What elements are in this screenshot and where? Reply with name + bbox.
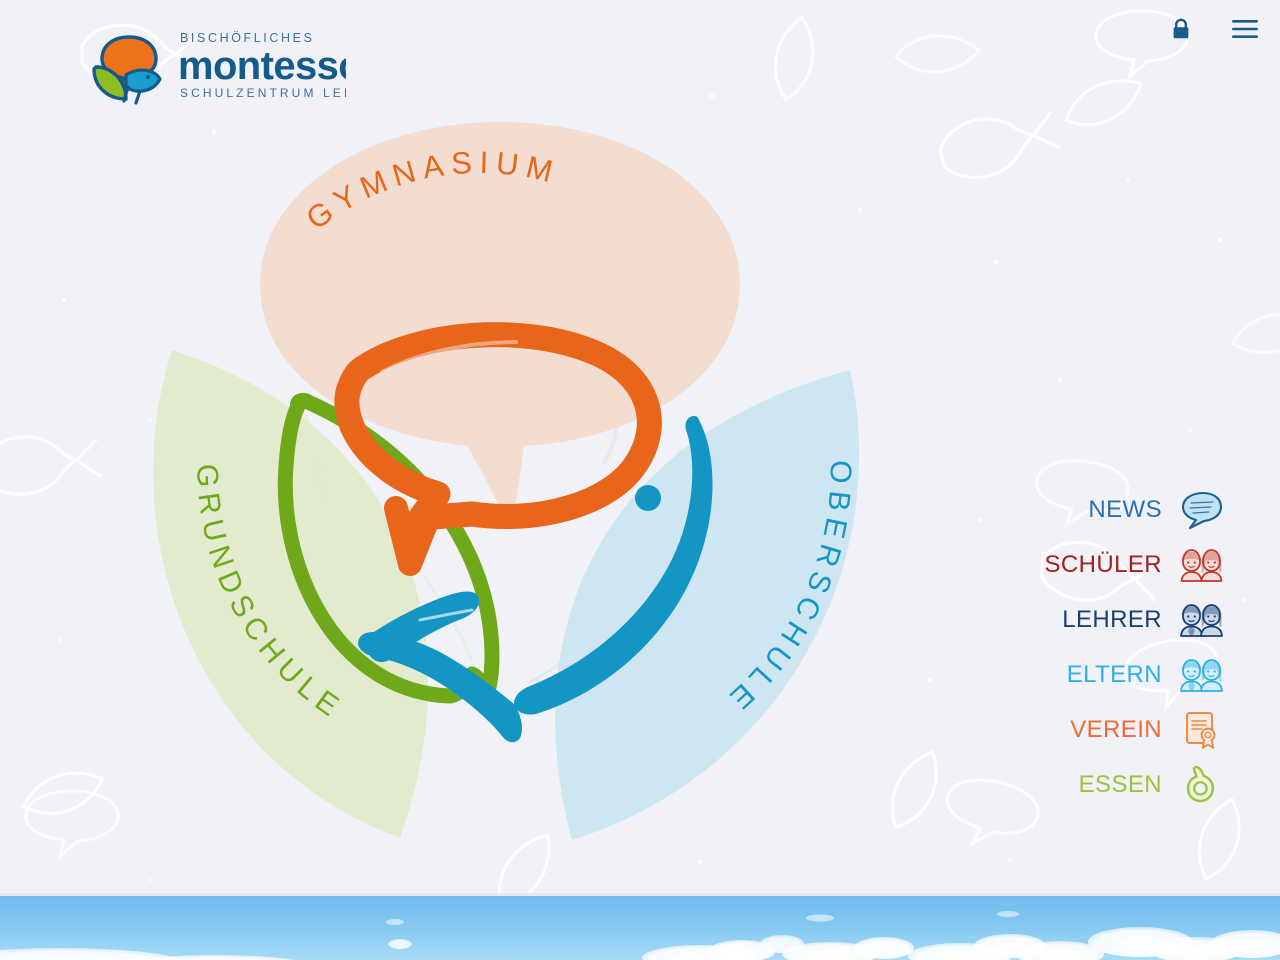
oberschule-fish-eye (635, 485, 661, 511)
quicknav-label-essen: ESSEN (1079, 773, 1162, 797)
quicknav-item-lehrer[interactable]: LEHRER (1004, 598, 1224, 642)
logo-line1: BISCHÖFLICHES (180, 31, 315, 45)
sky-footer-image (0, 896, 1280, 960)
school-segments-artwork: GRUNDSCHULE OBERSCHULE (120, 100, 900, 860)
site-header: BISCHÖFLICHES montessori SCHULZENTRUM LE… (0, 0, 1280, 130)
logo-line3: SCHULZENTRUM LEIPZIG (180, 86, 346, 100)
parents-icon (1178, 654, 1224, 696)
sky-divider (0, 893, 1280, 896)
quicknav-label-eltern: ELTERN (1067, 663, 1162, 687)
quicknav-item-verein[interactable]: VEREIN (1004, 708, 1224, 752)
quicknav-label-verein: VEREIN (1070, 718, 1162, 742)
quicknav-item-news[interactable]: NEWS (1004, 488, 1224, 532)
logo-wordmark: montessori (178, 44, 346, 88)
lock-icon[interactable] (1166, 14, 1196, 44)
site-logo[interactable]: BISCHÖFLICHES montessori SCHULZENTRUM LE… (84, 25, 346, 107)
pupils-icon (1178, 544, 1224, 586)
apple-icon (1178, 764, 1224, 806)
header-actions (1166, 14, 1260, 44)
certificate-icon (1178, 709, 1224, 751)
hamburger-icon[interactable] (1230, 14, 1260, 44)
quicknav-label-schueler: SCHÜLER (1045, 553, 1163, 577)
quick-navigation: NEWS SCHÜLER (1004, 488, 1224, 807)
quicknav-item-eltern[interactable]: ELTERN (1004, 653, 1224, 697)
quicknav-item-essen[interactable]: ESSEN (1004, 763, 1224, 807)
quicknav-label-lehrer: LEHRER (1062, 608, 1162, 632)
quicknav-label-news: NEWS (1088, 498, 1162, 522)
speech-bubble-icon (1178, 489, 1224, 531)
page-root: BISCHÖFLICHES montessori SCHULZENTRUM LE… (0, 0, 1280, 960)
quicknav-item-schueler[interactable]: SCHÜLER (1004, 543, 1224, 587)
logo-fish-icon (126, 70, 160, 91)
teachers-icon (1178, 599, 1224, 641)
